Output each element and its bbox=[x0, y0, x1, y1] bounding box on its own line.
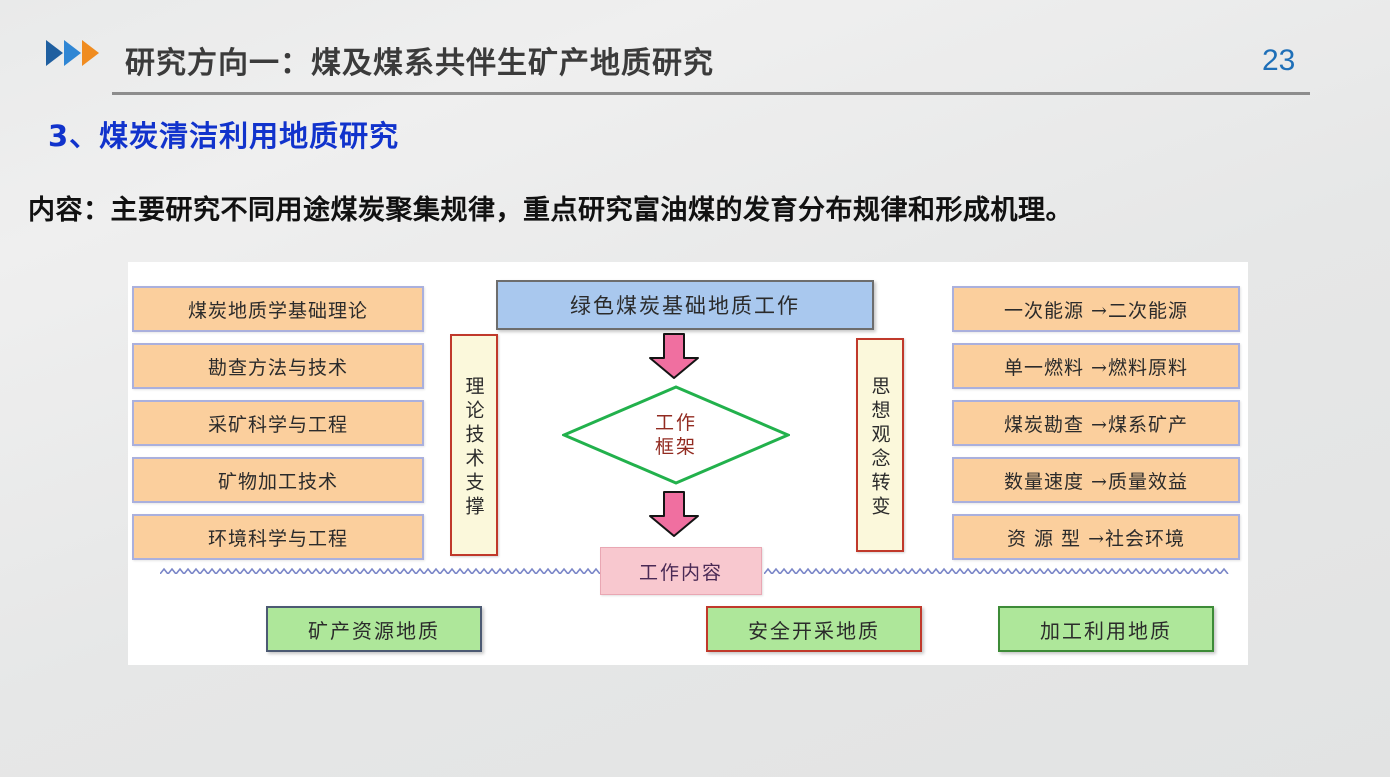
left-box-5[interactable]: 环境科学与工程 bbox=[132, 514, 424, 560]
work-content-box[interactable]: 工作内容 bbox=[600, 547, 762, 595]
chevron-group bbox=[46, 40, 99, 66]
right-vertical-box-label: 思想观念转变 bbox=[867, 376, 894, 520]
right-box-2[interactable]: 单一燃料 →燃料原料 bbox=[952, 343, 1240, 389]
left-box-4[interactable]: 矿物加工技术 bbox=[132, 457, 424, 503]
wavy-divider-right bbox=[764, 564, 1230, 574]
right-box-3-label: 煤炭勘查 →煤系矿产 bbox=[1004, 410, 1188, 437]
top-blue-box[interactable]: 绿色煤炭基础地质工作 bbox=[496, 280, 874, 330]
right-vertical-box[interactable]: 思想观念转变 bbox=[856, 338, 904, 552]
right-box-5[interactable]: 资 源 型 →社会环境 bbox=[952, 514, 1240, 560]
bottom-box-3-label: 加工利用地质 bbox=[1040, 615, 1172, 644]
left-box-5-label: 环境科学与工程 bbox=[208, 524, 348, 551]
left-box-3[interactable]: 采矿科学与工程 bbox=[132, 400, 424, 446]
bottom-box-2[interactable]: 安全开采地质 bbox=[706, 606, 922, 652]
bottom-box-1-label: 矿产资源地质 bbox=[308, 615, 440, 644]
bottom-box-2-label: 安全开采地质 bbox=[748, 615, 880, 644]
diamond-line-2: 框架 bbox=[655, 435, 697, 459]
diamond-label: 工作 框架 bbox=[562, 385, 790, 485]
work-framework-diamond[interactable]: 工作 框架 bbox=[562, 385, 790, 485]
content-description: 内容：主要研究不同用途煤炭聚集规律，重点研究富油煤的发育分布规律和形成机理。 bbox=[28, 188, 1073, 227]
right-box-5-label: 资 源 型 →社会环境 bbox=[1007, 524, 1185, 551]
right-box-2-label: 单一燃料 →燃料原料 bbox=[1004, 353, 1188, 380]
right-box-4[interactable]: 数量速度 →质量效益 bbox=[952, 457, 1240, 503]
diagram-panel: 煤炭地质学基础理论 勘查方法与技术 采矿科学与工程 矿物加工技术 环境科学与工程… bbox=[128, 262, 1248, 665]
page-title: 研究方向一：煤及煤系共伴生矿产地质研究 bbox=[125, 38, 714, 82]
right-box-1[interactable]: 一次能源 →二次能源 bbox=[952, 286, 1240, 332]
right-box-1-label: 一次能源 →二次能源 bbox=[1004, 296, 1188, 323]
work-content-box-label: 工作内容 bbox=[639, 558, 723, 585]
bottom-box-1[interactable]: 矿产资源地质 bbox=[266, 606, 482, 652]
arrow-down-icon bbox=[646, 490, 702, 538]
chevron-right-icon bbox=[64, 40, 81, 66]
wavy-divider-left bbox=[160, 564, 600, 574]
right-box-3[interactable]: 煤炭勘查 →煤系矿产 bbox=[952, 400, 1240, 446]
page-number: 23 bbox=[1262, 44, 1295, 78]
right-box-4-label: 数量速度 →质量效益 bbox=[1004, 467, 1188, 494]
header-divider bbox=[112, 92, 1310, 95]
chevron-right-icon bbox=[46, 40, 63, 66]
left-box-1[interactable]: 煤炭地质学基础理论 bbox=[132, 286, 424, 332]
arrow-down-icon bbox=[646, 332, 702, 380]
left-vertical-box[interactable]: 理论技术支撑 bbox=[450, 334, 498, 556]
left-box-3-label: 采矿科学与工程 bbox=[208, 410, 348, 437]
chevron-right-icon bbox=[82, 40, 99, 66]
diamond-line-1: 工作 bbox=[655, 411, 697, 435]
top-blue-box-label: 绿色煤炭基础地质工作 bbox=[570, 290, 800, 320]
section-heading: 3、煤炭清洁利用地质研究 bbox=[48, 113, 399, 155]
left-box-2-label: 勘查方法与技术 bbox=[208, 353, 348, 380]
left-box-2[interactable]: 勘查方法与技术 bbox=[132, 343, 424, 389]
left-box-1-label: 煤炭地质学基础理论 bbox=[188, 296, 368, 323]
bottom-box-3[interactable]: 加工利用地质 bbox=[998, 606, 1214, 652]
left-vertical-box-label: 理论技术支撑 bbox=[461, 376, 488, 520]
left-box-4-label: 矿物加工技术 bbox=[218, 467, 338, 494]
slide-header: 研究方向一：煤及煤系共伴生矿产地质研究 23 bbox=[0, 0, 1390, 100]
